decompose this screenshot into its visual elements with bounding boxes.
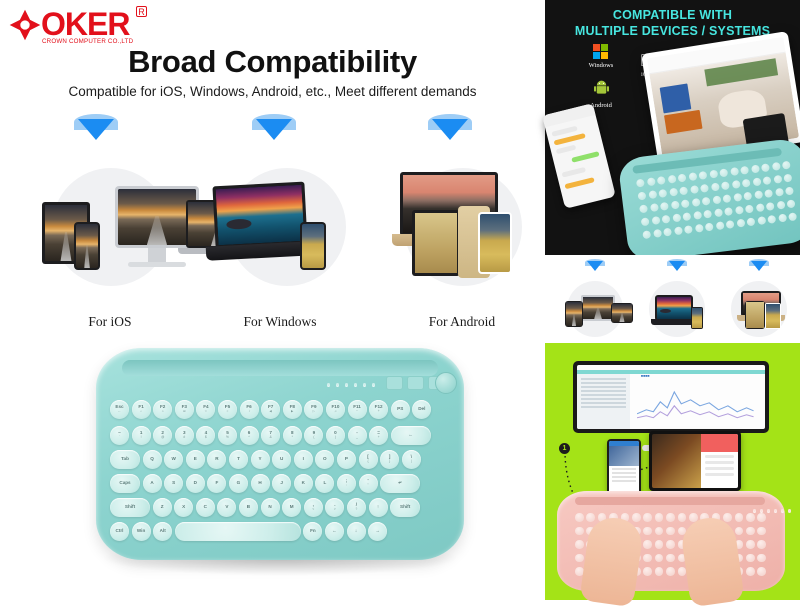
key-[interactable]: [{ [359, 450, 378, 469]
keyboard-row[interactable]: TabQWERTYUIOP[{]}\| [110, 450, 423, 469]
key-w[interactable]: W [164, 450, 183, 469]
key-f9[interactable]: F9▷ [304, 400, 323, 419]
key-f12[interactable]: F12+ [369, 400, 388, 419]
key-0[interactable]: 0) [326, 426, 345, 445]
right-column: COMPATIBLE WITH MULTIPLE DEVICES / SYSTE… [545, 0, 800, 600]
key-[interactable]: '" [359, 474, 378, 493]
os-label-windows: Windows [581, 62, 621, 69]
device-group-label-windows: For Windows [200, 314, 360, 330]
photo-key [705, 223, 714, 232]
photo-key [660, 202, 669, 211]
wifi-signal-icon [667, 259, 687, 272]
photo-key [651, 216, 660, 225]
page-title: Broad Compatibility [0, 44, 545, 80]
key-[interactable]: ,< [304, 498, 323, 517]
keyboard-row[interactable]: ~`1!2@3#4$5%6^7&8*9(0)-_=+← [110, 426, 433, 445]
photo-key [678, 513, 687, 522]
key-z[interactable]: Z [153, 498, 172, 517]
keyboard-row[interactable]: Esc←F1⌕F2⌂F3⊞F4☆F5☼F6☽F7◀F8▶F9▷F10♫F11−F… [110, 400, 434, 419]
photo-key [693, 211, 702, 220]
key-n[interactable]: N [261, 498, 280, 517]
photo-key [639, 204, 648, 213]
photo-key [757, 567, 766, 576]
photo-key [736, 219, 745, 228]
page-subtitle: Compatible for iOS, Windows, Android, et… [0, 84, 545, 99]
key-b[interactable]: B [239, 498, 258, 517]
photo-key [702, 197, 711, 206]
key-tab[interactable]: Tab [110, 450, 140, 469]
photo-key [638, 192, 647, 201]
key-f6[interactable]: F6☽ [240, 400, 259, 419]
photo-key [754, 190, 763, 199]
photo-key [764, 189, 773, 198]
photo-key [662, 215, 671, 224]
mint-keyboard-photo [617, 137, 800, 263]
photo-key [648, 190, 657, 199]
key-v[interactable]: V [217, 498, 236, 517]
key-9[interactable]: 9( [304, 426, 323, 445]
key-[interactable]: -_ [348, 426, 367, 445]
photo-key [666, 527, 675, 536]
photo-key [666, 540, 675, 549]
photo-key [674, 226, 683, 235]
device-group-label-ios: For iOS [30, 314, 190, 330]
photo-key [742, 179, 751, 188]
photo-key [700, 184, 709, 193]
photo-key [690, 185, 699, 194]
wifi-signal-icon [428, 114, 472, 140]
key-del[interactable]: Del [412, 400, 431, 419]
photo-key [767, 215, 776, 224]
photo-key [642, 230, 651, 239]
photo-key [667, 175, 676, 184]
photo-key [735, 513, 744, 522]
pink-indicator-dots [753, 507, 800, 515]
status-indicator-dots [327, 381, 381, 389]
photo-key [703, 210, 712, 219]
key-f8[interactable]: F8▶ [283, 400, 302, 419]
key-5[interactable]: 5% [218, 426, 237, 445]
keyboard-key-area[interactable]: Esc←F1⌕F2⌂F3⊞F4☆F5☼F6☽F7◀F8▶F9▷F10♫F11−F… [110, 400, 450, 546]
key-2[interactable]: 2@ [153, 426, 172, 445]
photo-key [655, 554, 664, 563]
wifi-signal-icon [74, 114, 118, 140]
key-ps[interactable]: PS [391, 400, 410, 419]
photo-key [721, 181, 730, 190]
tablet-menu [649, 431, 741, 491]
key-[interactable]: ↑ [369, 498, 388, 517]
key-ctrl[interactable]: Ctrl [110, 522, 129, 541]
photo-key [666, 513, 675, 522]
photo-key [757, 527, 766, 536]
photo-key [755, 203, 764, 212]
photo-key [766, 202, 775, 211]
key-f1[interactable]: F1⌕ [132, 400, 151, 419]
key-4[interactable]: 4$ [196, 426, 215, 445]
key-space[interactable] [175, 522, 301, 541]
wifi-signal-icon [585, 259, 605, 272]
photo-key [776, 201, 785, 210]
key-f7[interactable]: F7◀ [261, 400, 280, 419]
black-panel-title-line1: COMPATIBLE WITH [545, 8, 800, 24]
key-j[interactable]: J [272, 474, 291, 493]
key-[interactable]: /? [347, 498, 366, 517]
key-q[interactable]: Q [143, 450, 162, 469]
keyboard-row[interactable]: CtrlWinAltFn←↓→ [110, 522, 390, 541]
photo-key [632, 513, 641, 522]
photo-key [734, 206, 743, 215]
compatibility-black-panel: COMPATIBLE WITH MULTIPLE DEVICES / SYSTE… [545, 0, 800, 255]
photo-key [663, 228, 672, 237]
key-f11[interactable]: F11− [348, 400, 367, 419]
windows-logo-icon [593, 44, 609, 60]
keyboard-row[interactable]: ShiftZXCVBNM,<.>/?↑Shift [110, 498, 423, 517]
key-x[interactable]: X [174, 498, 193, 517]
device-strip [545, 255, 800, 343]
photo-key [679, 186, 688, 195]
key-k[interactable]: K [294, 474, 313, 493]
photo-key [724, 207, 733, 216]
key-c[interactable]: C [196, 498, 215, 517]
photo-key [746, 217, 755, 226]
key-[interactable]: .> [325, 498, 344, 517]
photo-key [743, 192, 752, 201]
key-8[interactable]: 8* [283, 426, 302, 445]
photo-key [735, 527, 744, 536]
key-6[interactable]: 6^ [240, 426, 259, 445]
photo-key [709, 170, 718, 179]
photo-key [646, 177, 655, 186]
device-group-label-android: For Android [382, 314, 542, 330]
photo-key [746, 554, 755, 563]
key-fn[interactable]: Fn [303, 522, 322, 541]
photo-key [666, 554, 675, 563]
key-u[interactable]: U [272, 450, 291, 469]
key-m[interactable]: M [282, 498, 301, 517]
photo-key [643, 540, 652, 549]
photo-key [643, 554, 652, 563]
oker-star-icon [8, 8, 42, 42]
photo-key [751, 165, 760, 174]
photo-key [715, 221, 724, 230]
photo-key [757, 540, 766, 549]
photo-key [682, 212, 691, 221]
key-3[interactable]: 3# [175, 426, 194, 445]
photo-key [655, 513, 664, 522]
device-stand-groove [122, 360, 438, 376]
photo-key [719, 168, 728, 177]
photo-key [655, 540, 664, 549]
key-shift[interactable]: Shift [110, 498, 150, 517]
key-f3[interactable]: F3⊞ [175, 400, 194, 419]
key-7[interactable]: 7& [261, 426, 280, 445]
key-f[interactable]: F [207, 474, 226, 493]
photo-key [757, 216, 766, 225]
os-badge-windows: Windows [581, 44, 621, 69]
photo-key [782, 161, 791, 170]
key-esc[interactable]: Esc← [110, 400, 129, 419]
lifestyle-green-panel: ■■■■ 1 2 3 [545, 343, 800, 600]
key-[interactable]: \| [402, 450, 421, 469]
key-f4[interactable]: F4☆ [196, 400, 215, 419]
key-[interactable]: ;: [337, 474, 356, 493]
key-[interactable]: ↓ [347, 522, 366, 541]
key-[interactable]: ← [391, 426, 431, 445]
photo-key [745, 205, 754, 214]
step-marker-1: 1 [559, 443, 570, 454]
key-s[interactable]: S [164, 474, 183, 493]
key-f2[interactable]: F2⌂ [153, 400, 172, 419]
key-shift[interactable]: Shift [390, 498, 420, 517]
photo-key [712, 195, 721, 204]
key-caps[interactable]: Caps [110, 474, 140, 493]
photo-key [778, 214, 787, 223]
photo-key [746, 567, 755, 576]
line-chart-graphic [637, 384, 754, 424]
photo-key [731, 180, 740, 189]
photo-key [757, 554, 766, 563]
key-[interactable]: ]} [380, 450, 399, 469]
key-[interactable]: ↵ [380, 474, 420, 493]
photo-key [655, 527, 664, 536]
photo-key [773, 175, 782, 184]
photo-key [761, 163, 770, 172]
photo-key [670, 201, 679, 210]
power-dial[interactable] [435, 372, 457, 394]
left-marketing-panel: OKER R CROWN COMPUTER CO.,LTD Broad Comp… [0, 0, 545, 600]
photo-key [586, 513, 595, 522]
photo-key [723, 513, 732, 522]
product-marketing-image: OKER R CROWN COMPUTER CO.,LTD Broad Comp… [0, 0, 800, 600]
mint-keyboard-product: Esc←F1⌕F2⌂F3⊞F4☆F5☼F6☽F7◀F8▶F9▷F10♫F11−F… [96, 348, 464, 560]
photo-key [672, 214, 681, 223]
photo-key [684, 225, 693, 234]
photo-key [658, 189, 667, 198]
photo-key [698, 171, 707, 180]
device-1-button[interactable] [386, 376, 403, 390]
smartphone-news [607, 439, 641, 495]
photo-key [730, 167, 739, 176]
photo-key [575, 554, 584, 563]
desktop-monitor-chart: ■■■■ [573, 361, 769, 433]
photo-key [710, 183, 719, 192]
photo-key [653, 229, 662, 238]
key-r[interactable]: R [207, 450, 226, 469]
photo-key [746, 527, 755, 536]
photo-key [787, 199, 796, 208]
photo-key [694, 224, 703, 233]
wifi-signal-icon [749, 259, 769, 272]
photo-key [643, 527, 652, 536]
photo-key [726, 220, 735, 229]
key-alt[interactable]: Alt [153, 522, 172, 541]
photo-key [691, 198, 700, 207]
photo-key [746, 540, 755, 549]
photo-key [733, 193, 742, 202]
key-[interactable]: =+ [369, 426, 388, 445]
photo-key [666, 567, 675, 576]
android-robot-icon [593, 80, 610, 95]
key-t[interactable]: T [229, 450, 248, 469]
key-win[interactable]: Win [132, 522, 151, 541]
photo-key [575, 513, 584, 522]
key-h[interactable]: H [251, 474, 270, 493]
key-[interactable]: ← [325, 522, 344, 541]
key-i[interactable]: I [294, 450, 313, 469]
key-o[interactable]: O [315, 450, 334, 469]
photo-key [752, 177, 761, 186]
key-p[interactable]: P [337, 450, 356, 469]
chart-heading: ■■■■ [641, 374, 650, 378]
key-[interactable]: ~` [110, 426, 129, 445]
key-1[interactable]: 1! [132, 426, 151, 445]
photo-key [678, 174, 687, 183]
key-f10[interactable]: F10♫ [326, 400, 345, 419]
white-smartphone-chat [542, 103, 616, 209]
photo-key [575, 540, 584, 549]
photo-key [771, 162, 780, 171]
photo-key [788, 212, 797, 221]
photo-key [775, 188, 784, 197]
key-d[interactable]: D [186, 474, 205, 493]
photo-key [655, 567, 664, 576]
key-e[interactable]: E [186, 450, 205, 469]
photo-key [714, 208, 723, 217]
photo-key [643, 567, 652, 576]
photo-key [669, 188, 678, 197]
keyboard-row[interactable]: CapsASDFGHJKL;:'"↵ [110, 474, 423, 493]
photo-key [681, 199, 690, 208]
key-l[interactable]: L [315, 474, 334, 493]
photo-key [763, 176, 772, 185]
photo-key [657, 176, 666, 185]
photo-key [650, 203, 659, 212]
photo-key [643, 513, 652, 522]
key-[interactable]: → [368, 522, 387, 541]
photo-key [575, 527, 584, 536]
device-2-button[interactable] [407, 376, 424, 390]
photo-key [688, 172, 697, 181]
key-a[interactable]: A [143, 474, 162, 493]
photo-key [641, 217, 650, 226]
photo-key [722, 194, 731, 203]
registered-mark-icon: R [136, 6, 147, 17]
photo-key [636, 179, 645, 188]
photo-key [783, 174, 792, 183]
photo-key [740, 166, 749, 175]
photo-key [785, 187, 794, 196]
key-g[interactable]: G [229, 474, 248, 493]
wifi-signal-icon [252, 114, 296, 140]
key-y[interactable]: Y [251, 450, 270, 469]
key-f5[interactable]: F5☼ [218, 400, 237, 419]
